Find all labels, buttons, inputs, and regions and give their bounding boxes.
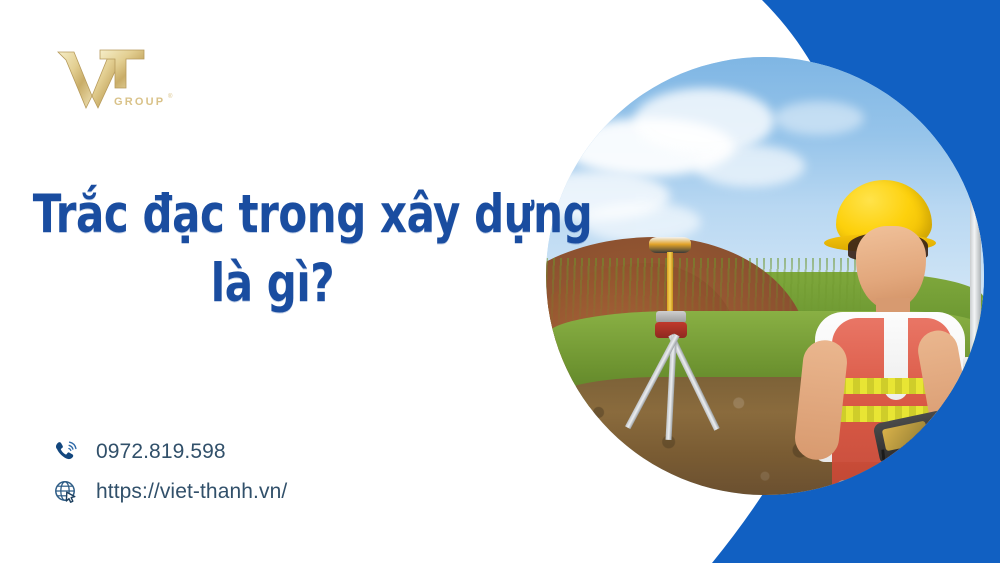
- contact-website-row[interactable]: https://viet-thanh.vn/: [52, 472, 287, 512]
- contact-block: 0972.819.598 https://viet-thanh.vn/: [52, 432, 287, 512]
- phone-ringing-icon: [52, 438, 80, 466]
- gnss-receiver-on-tripod: [607, 237, 756, 482]
- svg-text:GROUP: GROUP: [114, 96, 165, 108]
- gnss-pole: [667, 252, 673, 314]
- rod-clamp: [963, 357, 983, 379]
- lanyard-strap: [881, 446, 917, 495]
- cloud: [634, 88, 774, 154]
- headline-line-1: Trắc đạc trong xây dựng: [33, 186, 513, 243]
- cloud: [581, 202, 701, 242]
- globe-cursor-icon: [52, 478, 80, 506]
- website-url: https://viet-thanh.vn/: [96, 480, 287, 504]
- photo-inner: [546, 57, 984, 495]
- phone-number: 0972.819.598: [96, 440, 226, 464]
- svg-text:®: ®: [168, 93, 173, 100]
- vt-group-logo[interactable]: GROUP ®: [52, 44, 182, 116]
- cloud: [774, 101, 864, 135]
- survey-rod: [970, 132, 981, 495]
- gnss-receiver-head: [649, 237, 691, 253]
- page-title: Trắc đạc trong xây dựng là gì?: [0, 186, 545, 312]
- banner-root: GROUP ® Trắc đạc trong xây dựng là gì? 0…: [0, 0, 1000, 563]
- tripod-leg: [669, 333, 720, 430]
- contact-phone-row[interactable]: 0972.819.598: [52, 432, 287, 472]
- surveying-field-photo: [546, 57, 984, 495]
- tribrach: [656, 311, 686, 323]
- headline-line-2: là gì?: [33, 255, 513, 312]
- surveyor-worker: [791, 180, 984, 495]
- cloud: [695, 145, 805, 187]
